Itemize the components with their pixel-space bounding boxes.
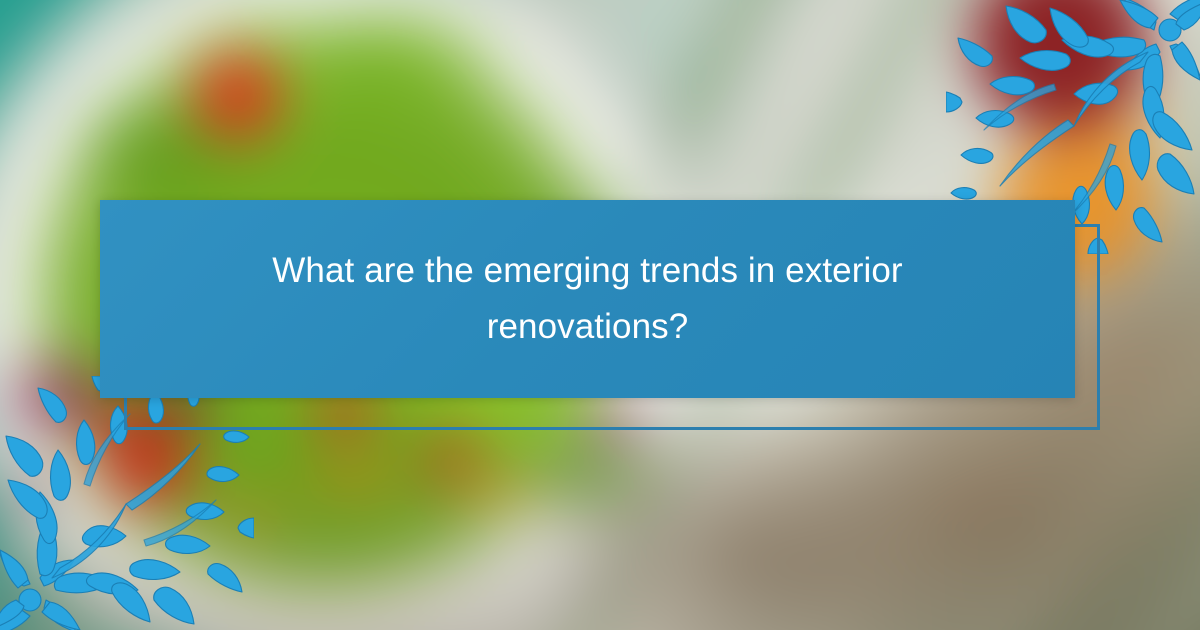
social-card: What are the emerging trends in exterior… [0,0,1200,630]
page-title: What are the emerging trends in exterior… [238,243,938,355]
headline-banner: What are the emerging trends in exterior… [100,200,1075,398]
